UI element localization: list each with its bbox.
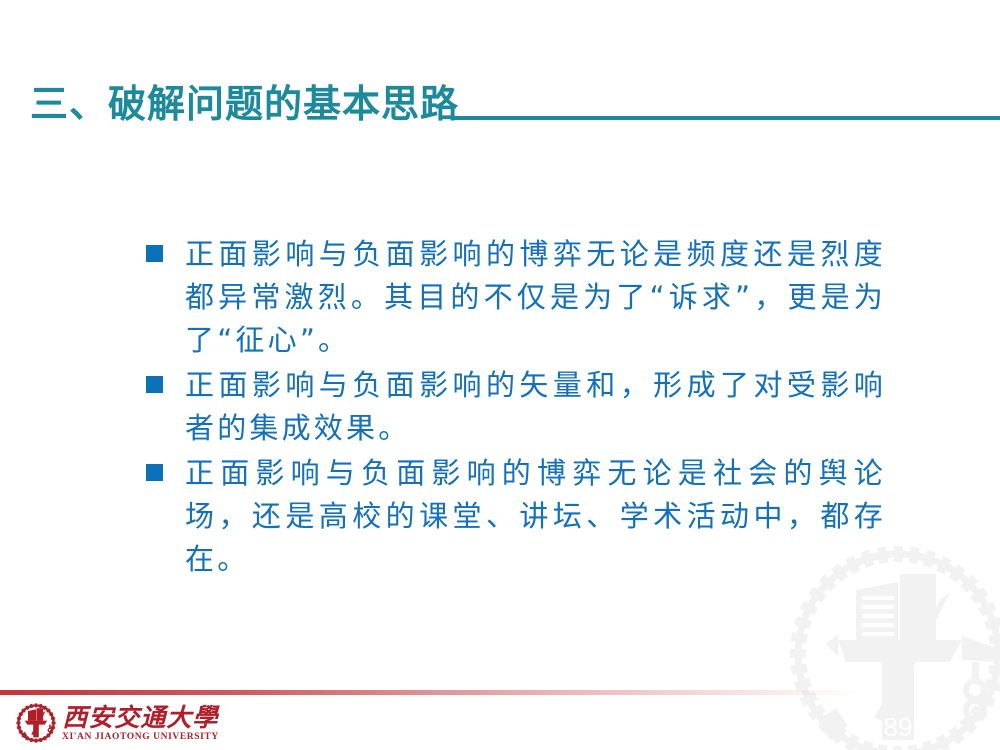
square-bullet-icon	[146, 464, 163, 481]
bullet-list: 正面影响与负面影响的博弈无论是频度还是烈度都异常激烈。其目的不仅是为了“诉求”，…	[146, 233, 886, 583]
page-title: 三、破解问题的基本思路	[0, 82, 459, 126]
list-item: 正面影响与负面影响的博弈无论是社会的舆论场，还是高校的课堂、讲坛、学术活动中，都…	[146, 452, 886, 581]
watermark-year: 1896	[869, 712, 927, 742]
bullet-text: 正面影响与负面影响的矢量和，形成了对受影响者的集成效果。	[185, 364, 886, 450]
logo-wordmarks: 西安交通大學 XI'AN JIAOTONG UNIVERSITY	[62, 704, 219, 743]
bullet-text: 正面影响与负面影响的博弈无论是频度还是烈度都异常激烈。其目的不仅是为了“诉求”，…	[185, 233, 886, 362]
list-item: 正面影响与负面影响的矢量和，形成了对受影响者的集成效果。	[146, 364, 886, 450]
presentation-slide: 1896 三、破解问题的基本思路 正面影响与负面影响的博弈无论是频度还是烈度都异…	[0, 0, 1000, 750]
slide-title-row: 三、破解问题的基本思路	[0, 66, 1000, 126]
square-bullet-icon	[146, 376, 163, 393]
logo-english-name: XI'AN JIAOTONG UNIVERSITY	[62, 731, 219, 743]
bullet-text: 正面影响与负面影响的博弈无论是社会的舆论场，还是高校的课堂、讲坛、学术活动中，都…	[185, 452, 886, 581]
logo-chinese-name: 西安交通大學	[62, 704, 218, 731]
footer-divider-rule	[0, 690, 860, 695]
square-bullet-icon	[146, 245, 163, 262]
university-logo: 西安交通大學 XI'AN JIAOTONG UNIVERSITY	[16, 700, 219, 746]
university-emblem-icon	[16, 703, 56, 743]
title-underline-rule	[453, 116, 1000, 120]
list-item: 正面影响与负面影响的博弈无论是频度还是烈度都异常激烈。其目的不仅是为了“诉求”，…	[146, 233, 886, 362]
